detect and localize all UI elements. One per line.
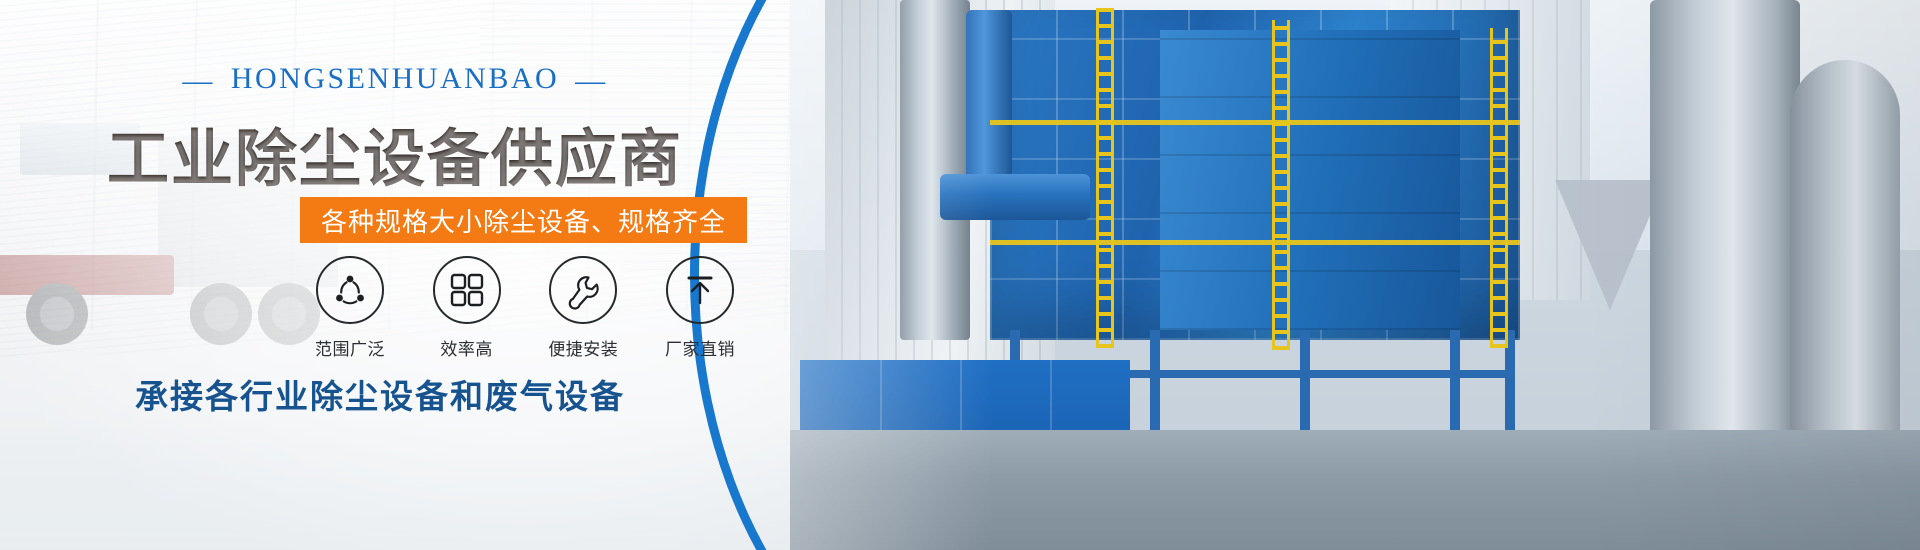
banner-content: —HONGSENHUANBAO— 工业除尘设备供应商 各种规格大小除尘设备、规格… [0,0,820,550]
banner-headline: 工业除尘设备供应商 [0,108,790,198]
eyebrow-dash-left: — [182,64,215,98]
orange-ribbon: 各种规格大小除尘设备、规格齐全 [300,197,747,243]
grid-squares-icon [433,256,501,324]
feature-item[interactable]: 范围广泛 [300,256,400,360]
photo-shading-overlay [790,0,1920,550]
ribbon-text: 各种规格大小除尘设备、规格齐全 [321,202,726,239]
feature-label: 范围广泛 [300,335,400,360]
industrial-equipment-photo [790,0,1920,550]
eyebrow-text: HONGSENHUANBAO [231,62,559,95]
feature-label: 便捷安装 [533,335,633,360]
feature-item[interactable]: 便捷安装 [533,256,633,360]
brand-eyebrow: —HONGSENHUANBAO— [0,62,790,98]
eyebrow-dash-right: — [575,64,608,98]
banner-tagline: 承接各行业除尘设备和废气设备 [0,370,760,418]
promo-banner: —HONGSENHUANBAO— 工业除尘设备供应商 各种规格大小除尘设备、规格… [0,0,1920,550]
wrench-icon [549,256,617,324]
feature-item[interactable]: 厂家直销 [650,256,750,360]
feature-label: 厂家直销 [650,335,750,360]
feature-list: 范围广泛 效率高 [300,256,750,360]
scope-network-icon [316,256,384,324]
arrow-up-icon [666,256,734,324]
feature-item[interactable]: 效率高 [417,256,517,360]
feature-label: 效率高 [417,335,517,360]
